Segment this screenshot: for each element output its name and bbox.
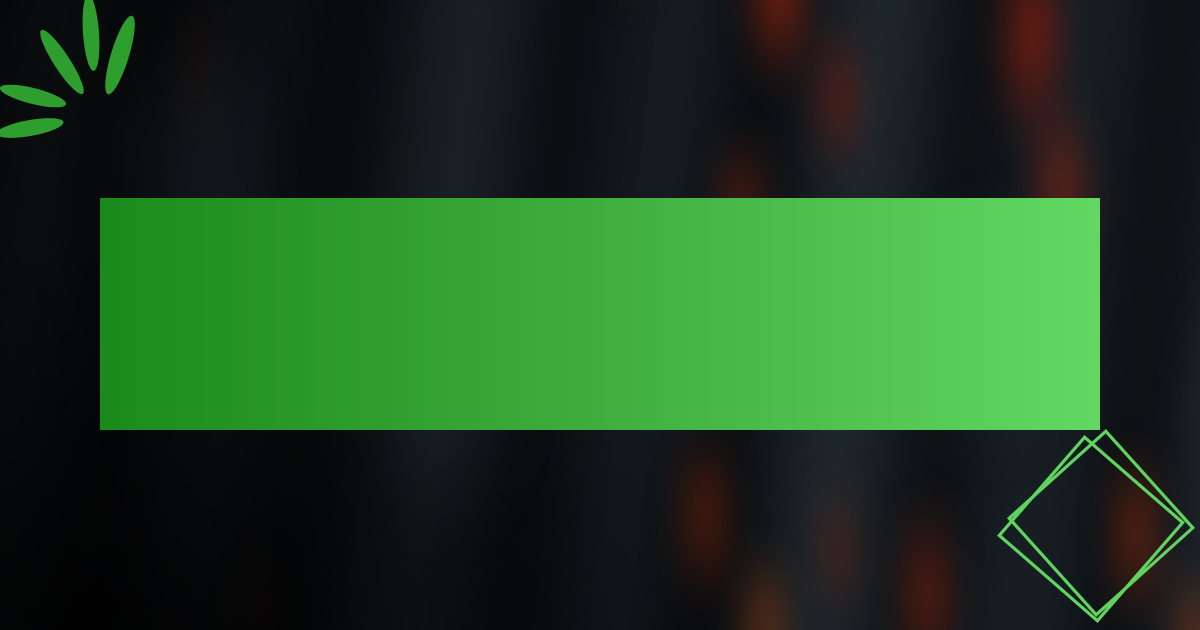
question-card-canvas: What are the key benefits of participati…: [0, 0, 1200, 630]
banner-gradient-fill: [100, 198, 1100, 430]
question-banner: What are the key benefits of participati…: [100, 198, 1100, 430]
